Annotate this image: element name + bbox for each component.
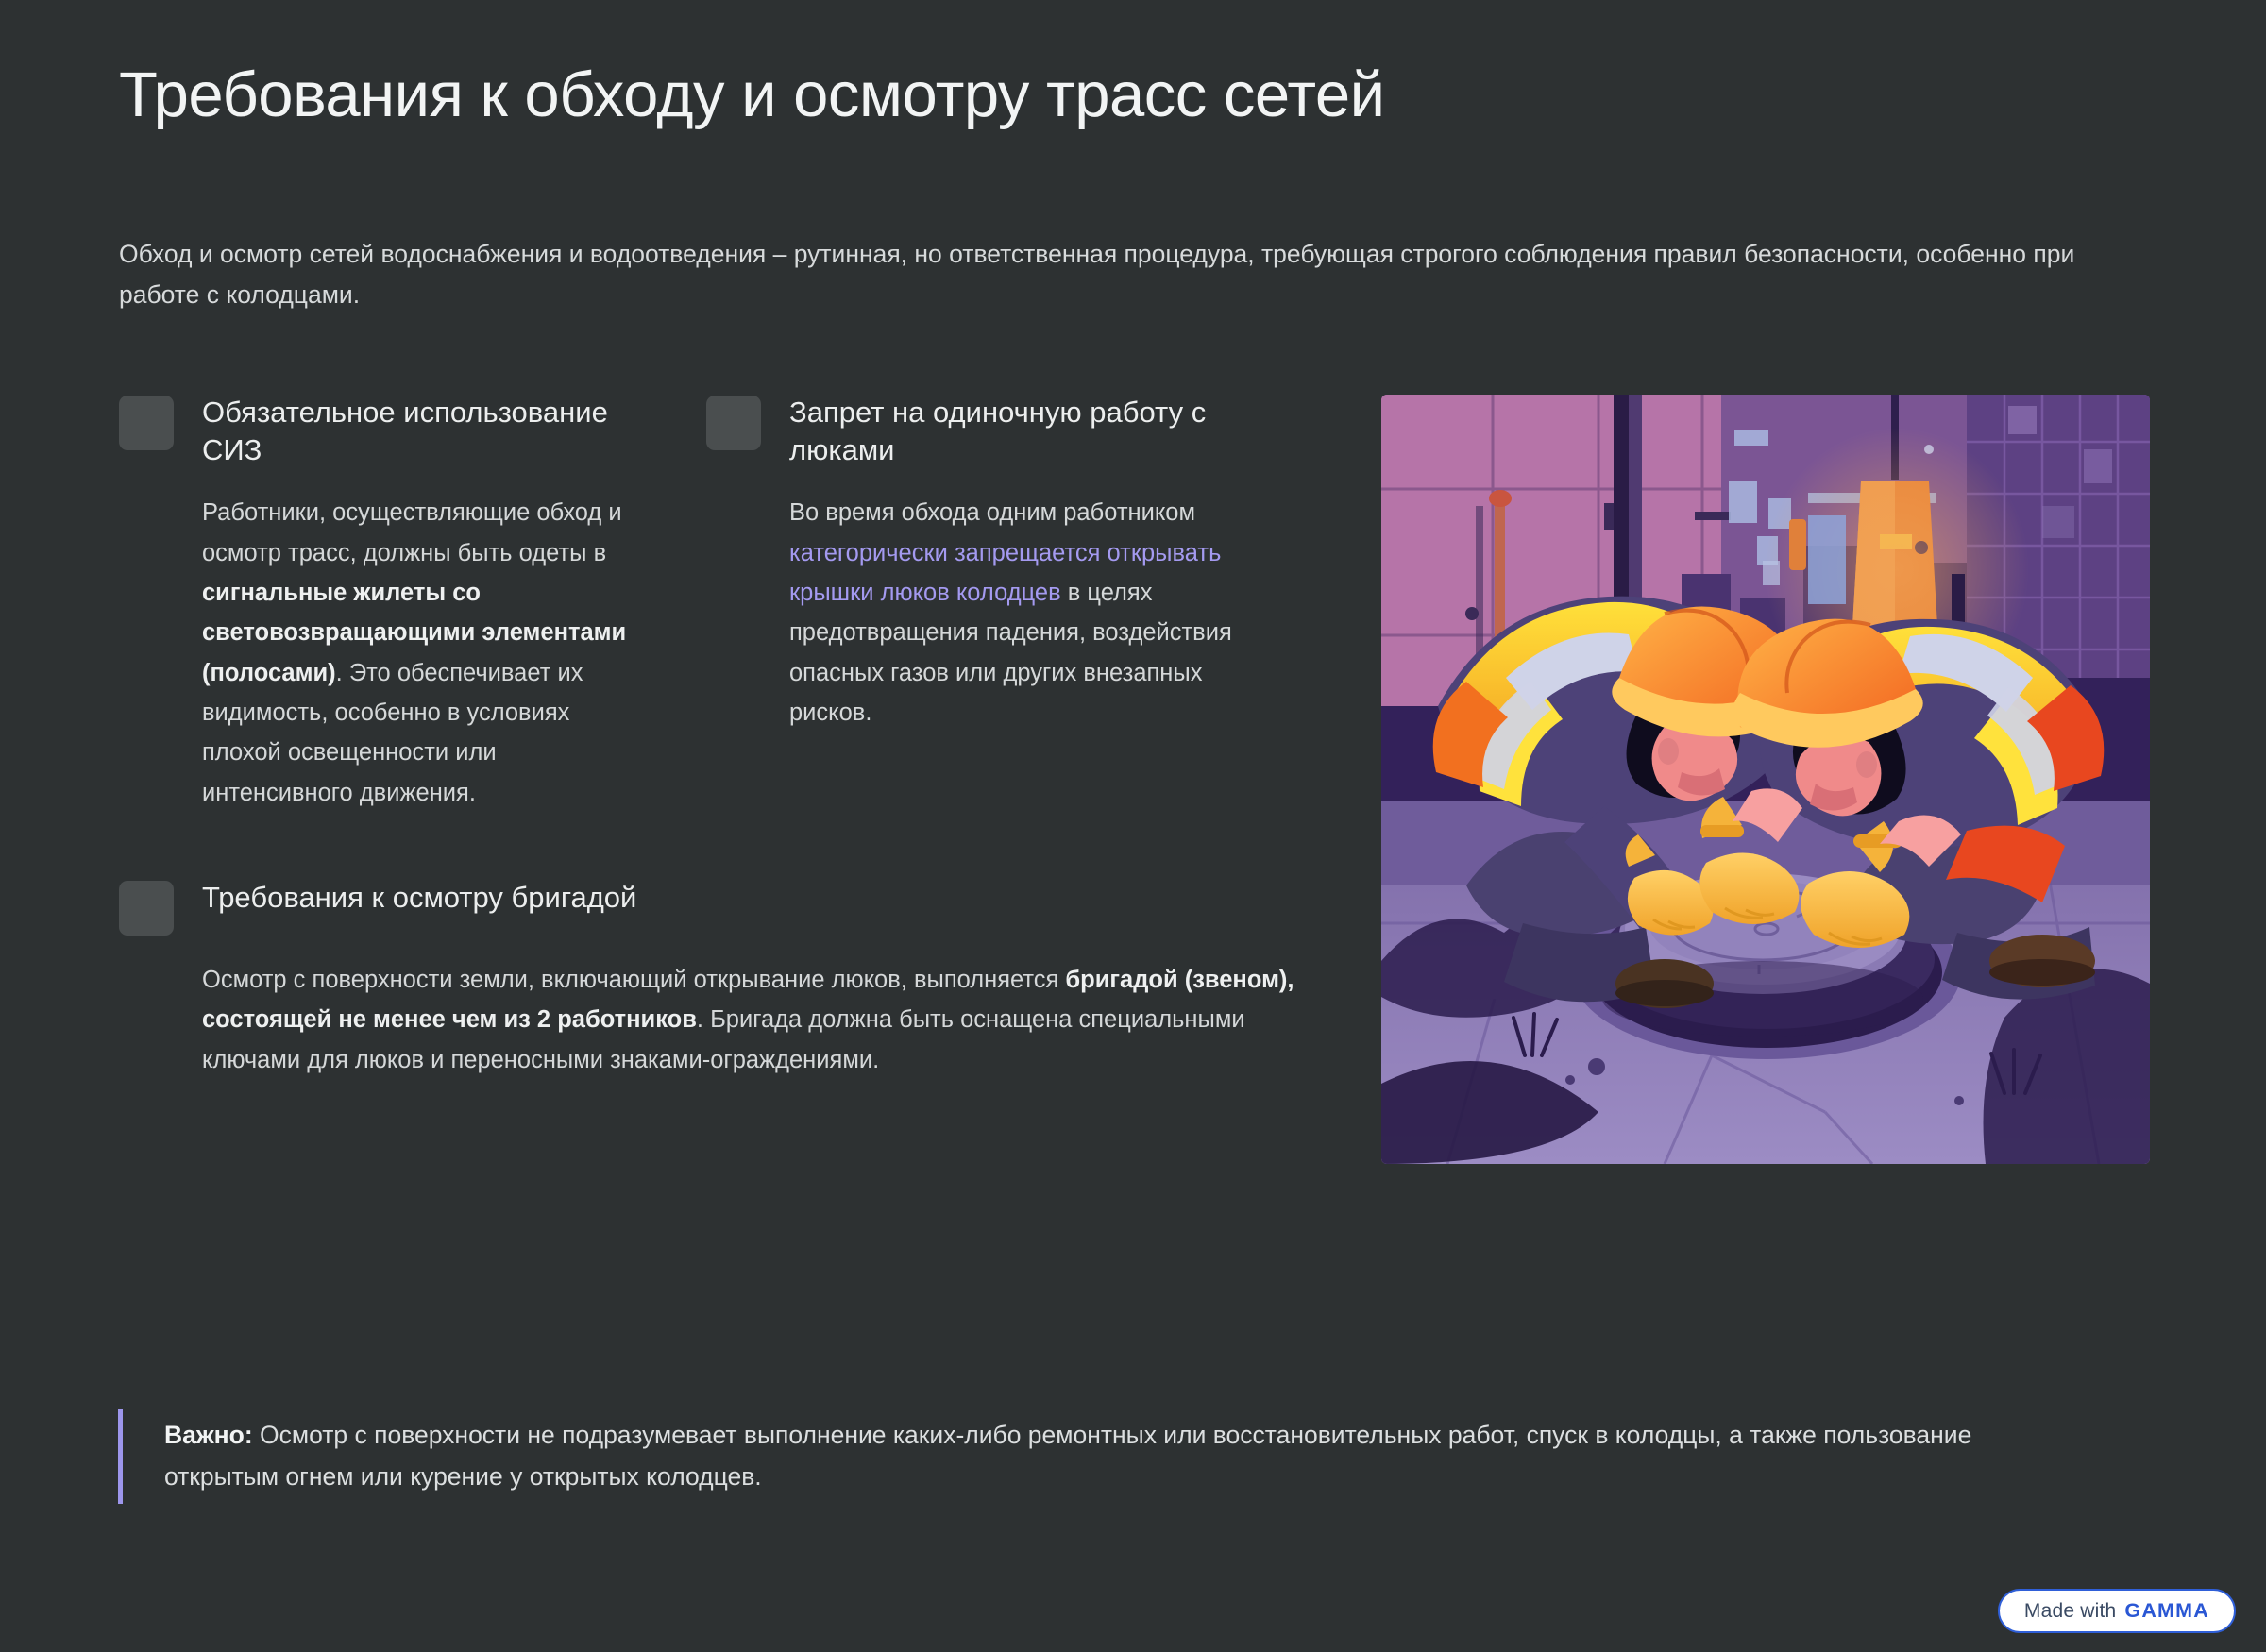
slide-root: Требования к обходу и осмотру трасс сете…: [0, 0, 2266, 1652]
card-brigade-requirements-header: Требования к осмотру бригадой: [119, 877, 1318, 936]
card-brigade-requirements-body: Осмотр с поверхности земли, включающий о…: [202, 960, 1297, 1080]
important-callout: Важно: Осмотр с поверхности не подразуме…: [118, 1409, 2091, 1504]
badge-brand-label: GAMMA: [2124, 1599, 2209, 1623]
card-solo-work-ban-title: Запрет на одиночную работу с люками: [789, 392, 1235, 468]
row-spacer: [119, 813, 1318, 877]
card-solo-work-ban: Запрет на одиночную работу с люками Во в…: [706, 392, 1235, 733]
important-callout-text: Важно: Осмотр с поверхности не подразуме…: [164, 1415, 2091, 1498]
plain-text: Осмотр с поверхности земли, включающий о…: [202, 967, 1065, 993]
cards-row-top: Обязательное использование СИЗ Работники…: [119, 392, 1318, 813]
card-solo-work-ban-body: Во время обхода одним работником категор…: [789, 493, 1235, 733]
card-brigade-requirements: Требования к осмотру бригадой Осмотр с п…: [119, 877, 1318, 1080]
card-brigade-requirements-title: Требования к осмотру бригадой: [202, 877, 636, 917]
badge-prefix-label: Made with: [2024, 1600, 2117, 1623]
plain-text: Во время обхода одним работником: [789, 499, 1195, 526]
card-ppe: Обязательное использование СИЗ Работники…: [119, 392, 648, 813]
placeholder-icon: [119, 396, 174, 450]
card-ppe-title: Обязательное использование СИЗ: [202, 392, 648, 468]
inline-link[interactable]: категорически запрещается открывать крыш…: [789, 540, 1221, 606]
intro-paragraph: Обход и осмотр сетей водоснабжения и вод…: [119, 234, 2083, 315]
cards-container: Обязательное использование СИЗ Работники…: [119, 392, 1318, 1080]
plain-text: Работники, осуществляющие обход и осмотр…: [202, 499, 622, 565]
card-ppe-body: Работники, осуществляющие обход и осмотр…: [202, 493, 648, 813]
page-title: Требования к обходу и осмотру трасс сете…: [119, 59, 2007, 131]
important-callout-body: Осмотр с поверхности не подразумевает вы…: [164, 1421, 1971, 1491]
made-with-gamma-badge[interactable]: Made with GAMMA: [1998, 1589, 2236, 1633]
two-workers-opening-manhole-illustration: [1381, 395, 2150, 1164]
important-callout-label: Важно:: [164, 1421, 253, 1449]
card-ppe-header: Обязательное использование СИЗ: [119, 392, 648, 468]
placeholder-icon: [706, 396, 761, 450]
placeholder-icon: [119, 881, 174, 936]
card-solo-work-ban-header: Запрет на одиночную работу с люками: [706, 392, 1235, 468]
